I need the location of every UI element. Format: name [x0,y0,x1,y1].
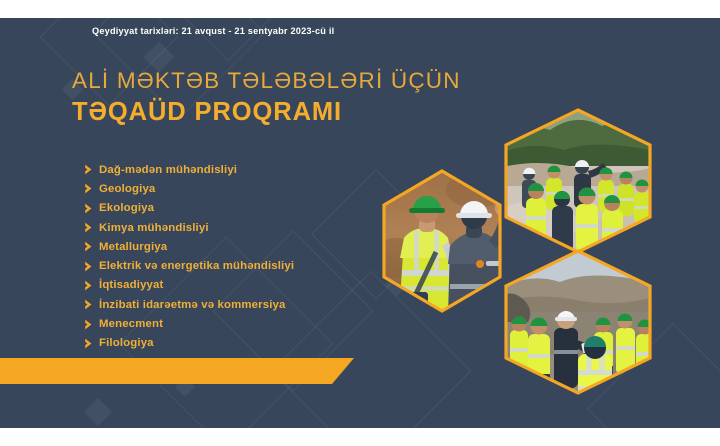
list-item: Metallurgiya [84,237,414,256]
chevron-right-icon [84,338,99,349]
registration-date-banner [0,358,354,384]
list-item-label: Elektrik və energetika mühəndisliyi [99,260,294,272]
chevron-right-icon [84,299,99,310]
list-item-label: Filologiya [99,337,154,349]
list-item: Geologiya [84,179,414,198]
decorative-diamond-solid [84,398,112,426]
page-title-secondary: TƏQAÜD PROQRAMI [72,97,492,129]
registration-date-text: Qeydiyyat tarixləri: 21 avqust - 21 sent… [92,18,334,44]
chevron-right-icon [84,183,99,194]
list-item: Menecment [84,314,414,333]
chevron-right-icon [84,241,99,252]
list-item-label: Dağ-mədən mühəndisliyi [99,164,237,176]
photo-team-discussion-site [498,246,658,398]
list-item: İqtisadiyyat [84,276,414,295]
list-item: Kimya mühəndisliyi [84,218,414,237]
list-item-label: Geologiya [99,183,155,195]
list-item-label: Ekologiya [99,202,154,214]
list-item: Ekologiya [84,199,414,218]
title-block: ALİ MƏKTƏB TƏLƏBƏLƏRİ ÜÇÜN TƏQAÜD PROQRA… [72,68,492,129]
photo-group-briefing-quarry [498,106,658,256]
list-item: İnzibati idarəetmə və kommersiya [84,295,414,314]
list-item-label: İqtisadiyyat [99,279,163,291]
chevron-right-icon [84,203,99,214]
chevron-right-icon [84,222,99,233]
list-item-label: Metallurgiya [99,241,167,253]
list-item: Filologiya [84,334,414,353]
chevron-right-icon [84,261,99,272]
chevron-right-icon [84,319,99,330]
list-item-label: Menecment [99,318,163,330]
poster-canvas: ALİ MƏKTƏB TƏLƏBƏLƏRİ ÜÇÜN TƏQAÜD PROQRA… [0,18,720,428]
chevron-right-icon [84,164,99,175]
list-item: Elektrik və energetika mühəndisliyi [84,256,414,275]
list-item: Dağ-mədən mühəndisliyi [84,160,414,179]
page-title-primary: ALİ MƏKTƏB TƏLƏBƏLƏRİ ÜÇÜN [72,68,492,94]
program-list: Dağ-mədən mühəndisliyi Geologiya Ekologi… [84,160,414,353]
list-item-label: İnzibati idarəetmə və kommersiya [99,299,286,311]
photo-two-workers-hardhats [376,166,508,316]
chevron-right-icon [84,280,99,291]
list-item-label: Kimya mühəndisliyi [99,222,209,234]
